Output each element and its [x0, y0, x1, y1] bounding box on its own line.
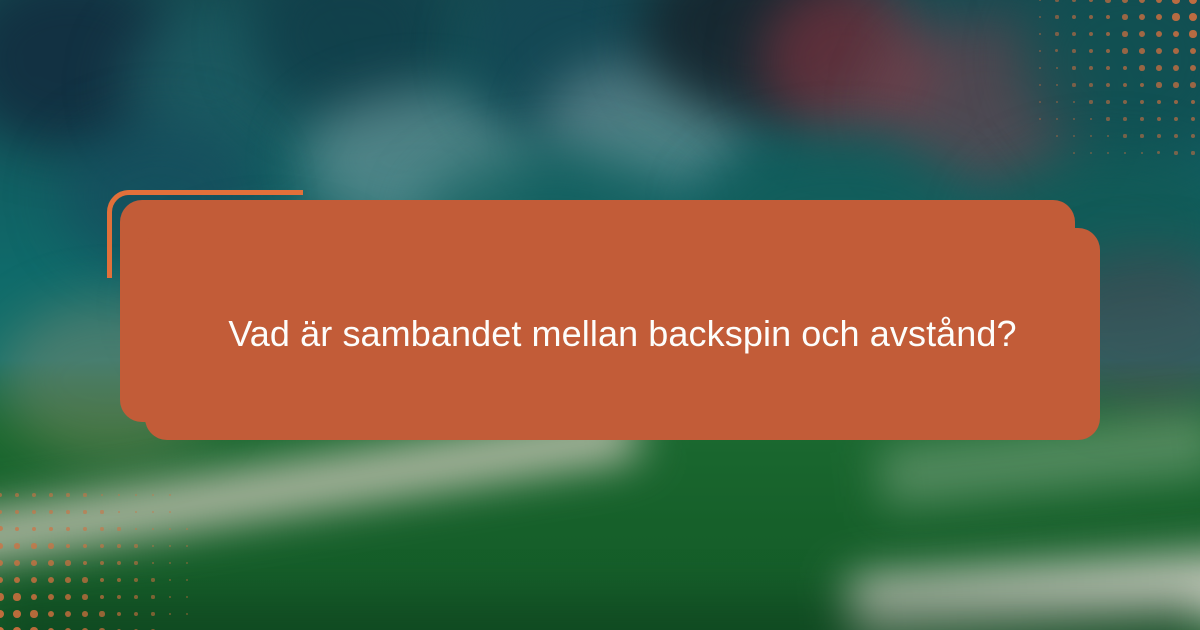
page-title: Vad är sambandet mellan backspin och avs… [228, 307, 1016, 360]
field-shadow [0, 600, 1200, 630]
card-text-area: Vad är sambandet mellan backspin och avs… [145, 228, 1100, 440]
social-card-canvas: Vad är sambandet mellan backspin och avs… [0, 0, 1200, 630]
